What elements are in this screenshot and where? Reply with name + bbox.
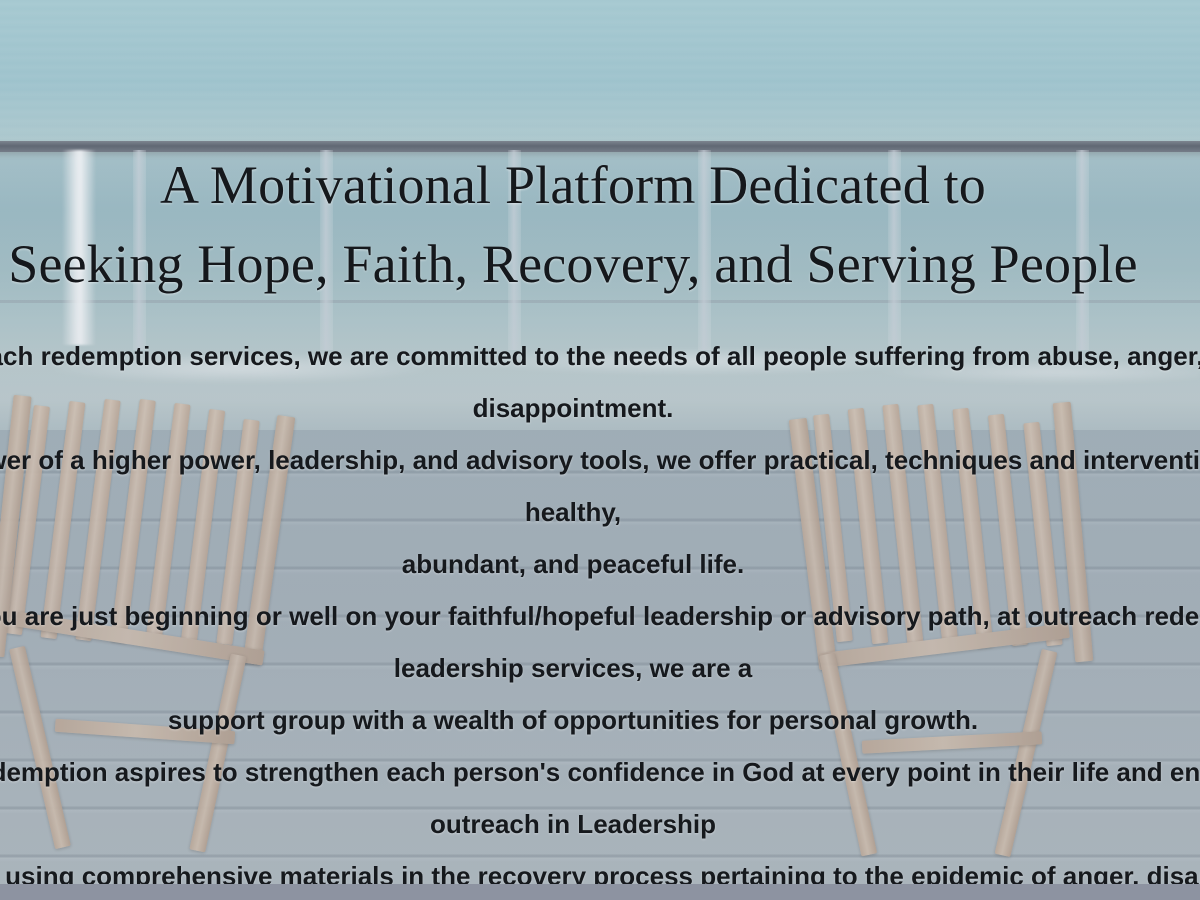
hero-description: At outreach redemption services, we are …: [0, 330, 1200, 884]
hero-description-line: abundant, and peaceful life.: [0, 538, 1200, 590]
hero-description-line: Through the power of a higher power, lea…: [0, 434, 1200, 538]
page-title: A Motivational Platform Dedicated to See…: [0, 0, 1200, 304]
hero-banner: A Motivational Platform Dedicated to See…: [0, 0, 1200, 884]
hero-content: A Motivational Platform Dedicated to See…: [0, 0, 1200, 884]
hero-description-line: At outreach redemption services, we are …: [0, 330, 1200, 434]
page-title-line-2: Seeking Hope, Faith, Recovery, and Servi…: [8, 234, 1138, 294]
hero-description-line: Whether you are just beginning or well o…: [0, 590, 1200, 694]
hero-description-line: support group with a wealth of opportuni…: [0, 694, 1200, 746]
hero-description-line: Outreach redemption aspires to strengthe…: [0, 746, 1200, 850]
page-title-line-1: A Motivational Platform Dedicated to: [160, 155, 986, 215]
hero-description-line: and Training, by using comprehensive mat…: [0, 850, 1200, 884]
